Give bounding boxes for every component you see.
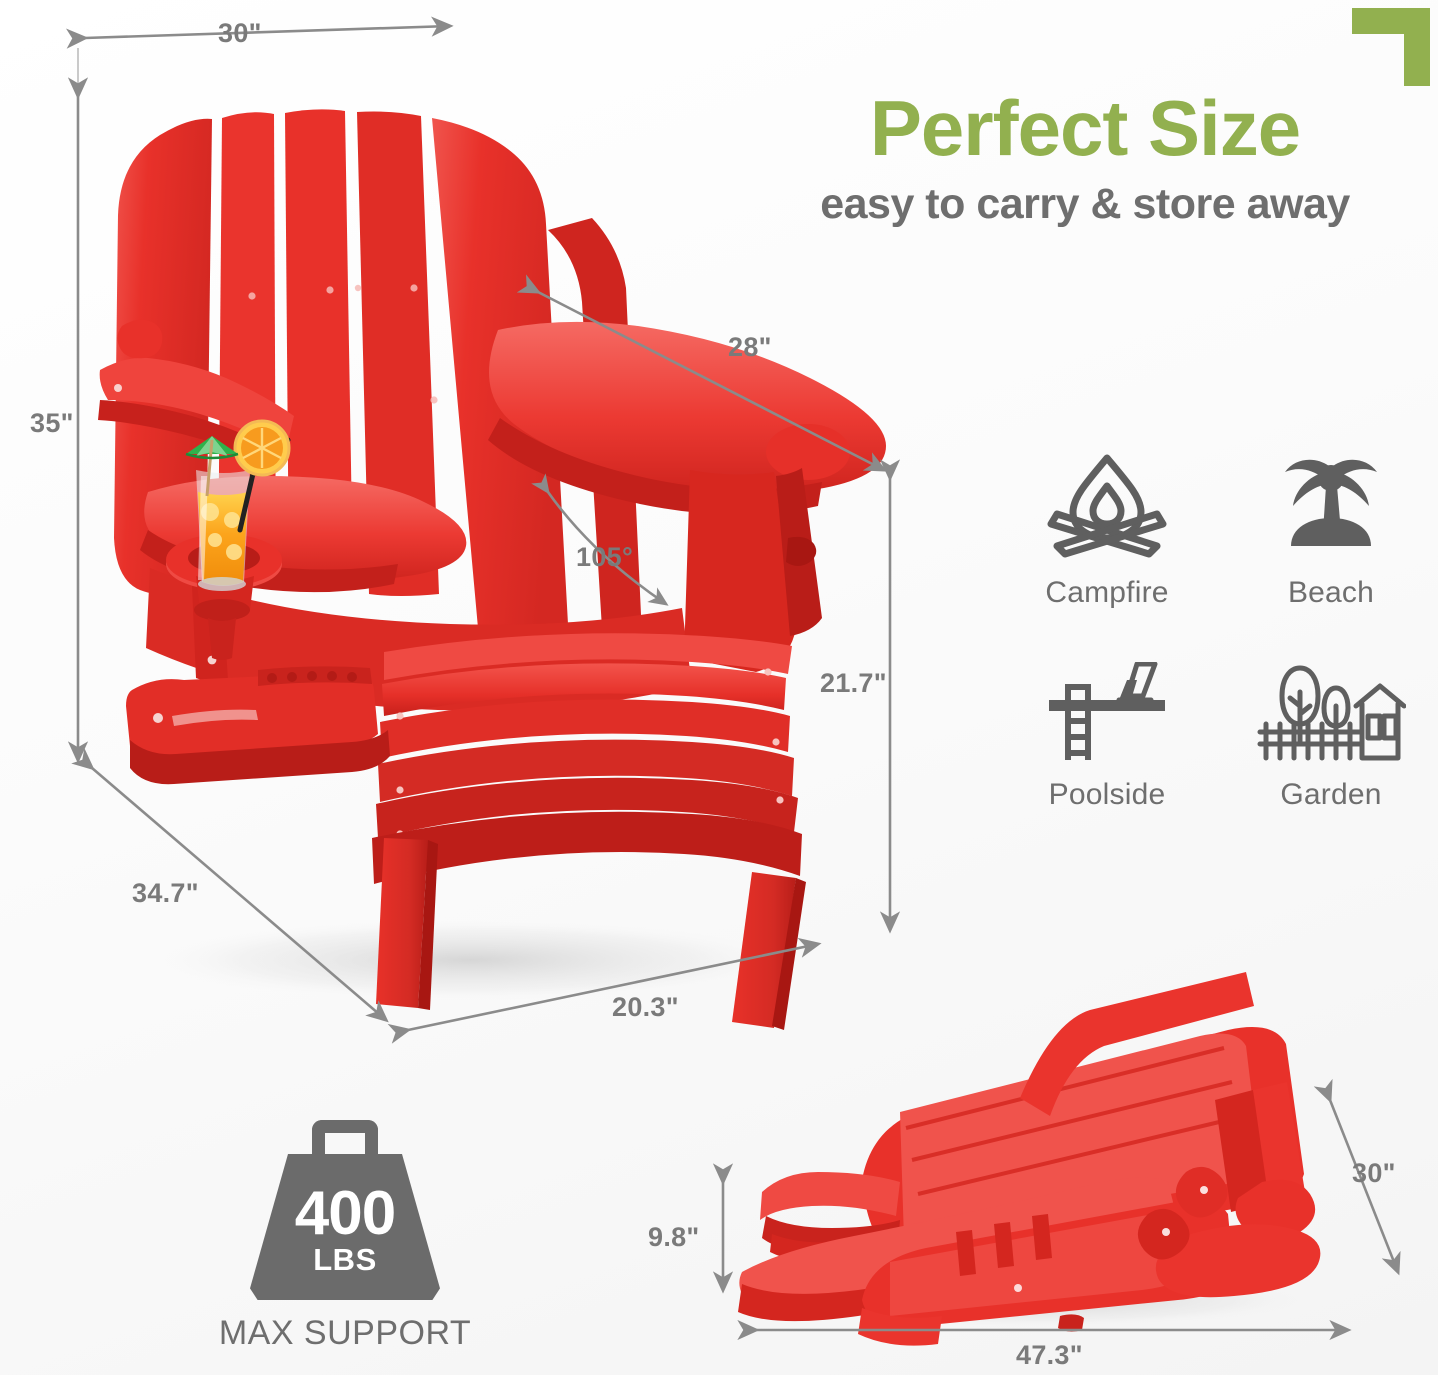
infographic-canvas: Perfect Size easy to carry & store away: [0, 0, 1438, 1375]
dimension-label-seat-height: 21.7": [820, 668, 887, 699]
dimension-label-folded-depth: 30": [1352, 1158, 1396, 1189]
weight-icon: 400 LBS: [250, 1120, 440, 1300]
usecase-campfire: Campfire: [1000, 450, 1214, 610]
palm-tree-icon: [1271, 450, 1391, 560]
corner-bracket-icon: [1352, 8, 1430, 86]
dimension-label-width-top: 30": [218, 18, 262, 49]
page-subtitle: easy to carry & store away: [740, 180, 1430, 229]
max-support-label: MAX SUPPORT: [150, 1314, 540, 1353]
max-support-unit: LBS: [250, 1242, 440, 1278]
dimension-label-folded-length: 47.3": [1016, 1340, 1083, 1371]
usecase-label: Campfire: [1045, 576, 1168, 610]
campfire-icon: [1045, 450, 1169, 560]
dimension-label-folded-height: 9.8": [648, 1222, 700, 1253]
dimension-label-arm-length: 28": [728, 332, 772, 363]
page-title: Perfect Size: [740, 88, 1430, 170]
headline-block: Perfect Size easy to carry & store away: [740, 88, 1430, 229]
usecase-beach: Beach: [1224, 450, 1438, 610]
usecase-garden: Garden: [1224, 662, 1438, 812]
usecase-grid: Campfire Beach: [1000, 450, 1438, 812]
max-support-value: 400: [250, 1178, 440, 1249]
poolside-icon: [1045, 662, 1169, 762]
garden-icon: [1256, 662, 1406, 762]
dimension-label-back-angle: 105°: [576, 542, 633, 573]
max-support-block: 400 LBS MAX SUPPORT: [150, 1120, 540, 1353]
usecase-poolside: Poolside: [1000, 662, 1214, 812]
usecase-label: Poolside: [1049, 778, 1166, 812]
dimension-label-depth-diagonal: 34.7": [132, 878, 199, 909]
dimension-label-height-left: 35": [30, 408, 74, 439]
dimension-label-seat-width: 20.3": [612, 992, 679, 1023]
usecase-label: Garden: [1280, 778, 1381, 812]
usecase-label: Beach: [1288, 576, 1374, 610]
adirondack-chair-folded: [723, 972, 1398, 1346]
